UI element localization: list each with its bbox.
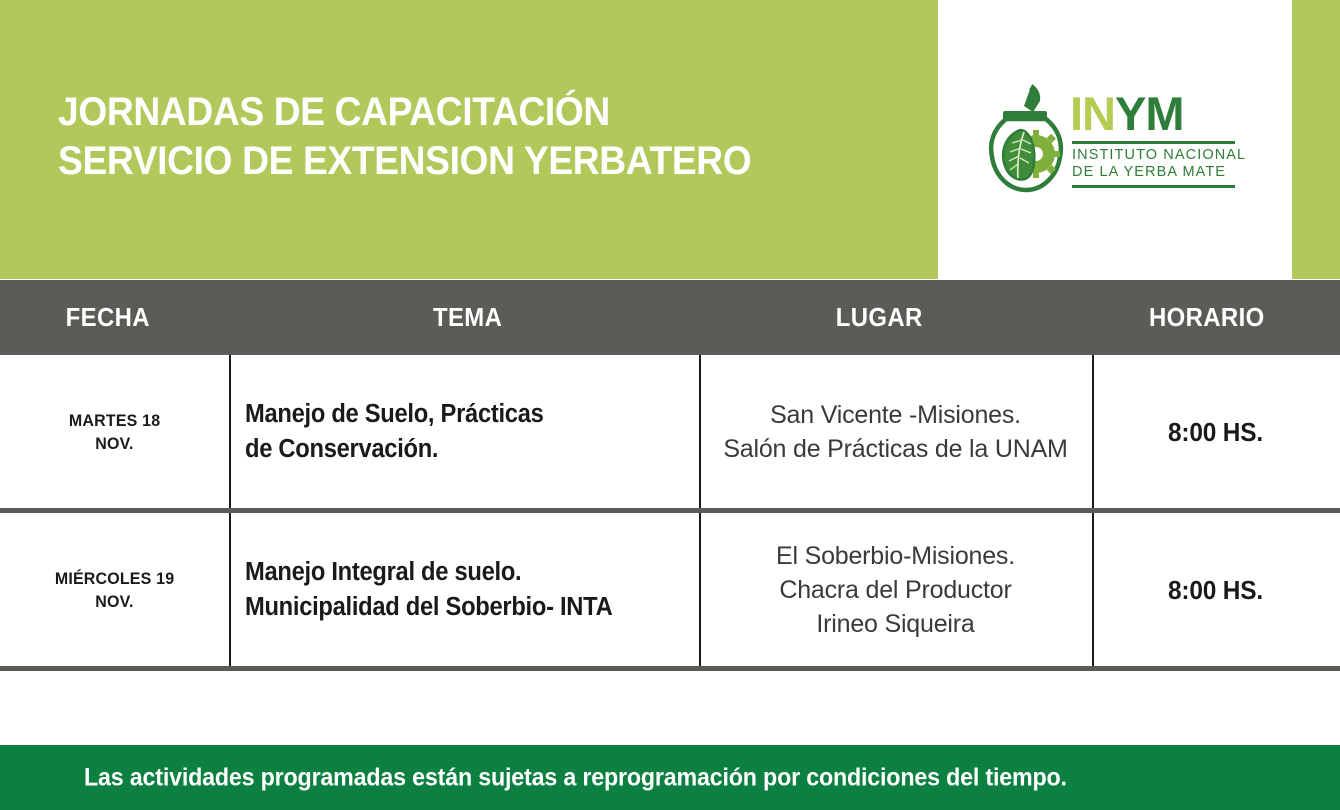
inym-acronym-dark: YM (1115, 87, 1184, 140)
footer-notice-band: Las actividades programadas están sujeta… (0, 745, 1340, 810)
column-header-lugar: LUGAR (836, 280, 923, 355)
page-title-line2: SERVICIO DE EXTENSION YERBATERO (58, 137, 858, 186)
table-header-bar: FECHA TEMA LUGAR HORARIO (0, 280, 1340, 355)
poster-canvas: JORNADAS DE CAPACITACIÓN SERVICIO DE EXT… (0, 0, 1340, 810)
inym-logo: INYM INSTITUTO NACIONAL DE LA YERBA MATE (986, 82, 1236, 198)
tema-line2: Municipalidad del Soberbio- INTA (245, 590, 612, 625)
cell-tema: Manejo de Suelo, Prácticas de Conservaci… (229, 355, 699, 508)
lugar-line1: San Vicente -Misiones. (770, 398, 1021, 432)
inym-subtitle-line1: INSTITUTO NACIONAL (1072, 147, 1236, 164)
inym-subtitle-line2: DE LA YERBA MATE (1072, 164, 1236, 181)
column-divider (229, 513, 231, 666)
lugar-line2: Chacra del Productor (779, 573, 1011, 607)
tema-line1: Manejo de Suelo, Prácticas (245, 397, 544, 432)
header-green-strip-right (1292, 0, 1340, 279)
cell-fecha: MIÉRCOLES 19 NOV. (0, 513, 229, 666)
page-title: JORNADAS DE CAPACITACIÓN SERVICIO DE EXT… (58, 88, 918, 186)
cell-lugar: El Soberbio-Misiones. Chacra del Product… (699, 513, 1092, 666)
column-divider (699, 355, 701, 508)
column-divider (699, 513, 701, 666)
horario-value: 8:00 HS. (1169, 417, 1264, 447)
column-divider (1092, 513, 1094, 666)
logo-rule-top (1072, 141, 1235, 144)
mate-gourd-icon (986, 82, 1068, 198)
fecha-line2: NOV. (95, 432, 133, 455)
column-header-horario: HORARIO (1149, 280, 1265, 355)
column-divider (229, 355, 231, 508)
logo-rule-bottom (1072, 185, 1235, 188)
fecha-line1: MARTES 18 (69, 409, 160, 432)
cell-lugar: San Vicente -Misiones. Salón de Práctica… (699, 355, 1092, 508)
page-title-line1: JORNADAS DE CAPACITACIÓN (58, 88, 858, 137)
table-bottom-rule (0, 666, 1340, 671)
cell-tema: Manejo Integral de suelo. Municipalidad … (229, 513, 699, 666)
footer-notice-text: Las actividades programadas están sujeta… (84, 763, 1067, 792)
lugar-line1: El Soberbio-Misiones. (776, 539, 1015, 573)
inym-acronym-light: IN (1070, 87, 1115, 140)
cell-horario: 8:00 HS. (1092, 513, 1340, 666)
tema-line1: Manejo Integral de suelo. (245, 555, 521, 590)
cell-fecha: MARTES 18 NOV. (0, 355, 229, 508)
inym-logo-text: INYM INSTITUTO NACIONAL DE LA YERBA MATE (1070, 90, 1236, 191)
column-header-tema: TEMA (433, 280, 502, 355)
tema-line2: de Conservación. (245, 432, 438, 467)
lugar-line3: Irineo Siqueira (816, 607, 974, 641)
fecha-line1: MIÉRCOLES 19 (55, 567, 174, 590)
lugar-line2: Salón de Prácticas de la UNAM (723, 432, 1067, 466)
table-row: MARTES 18 NOV. Manejo de Suelo, Práctica… (0, 355, 1340, 508)
table-row: MIÉRCOLES 19 NOV. Manejo Integral de sue… (0, 513, 1340, 666)
column-divider (1092, 355, 1094, 508)
fecha-line2: NOV. (95, 590, 133, 613)
column-header-fecha: FECHA (66, 280, 150, 355)
inym-acronym: INYM (1070, 90, 1236, 137)
horario-value: 8:00 HS. (1169, 575, 1264, 605)
cell-horario: 8:00 HS. (1092, 355, 1340, 508)
